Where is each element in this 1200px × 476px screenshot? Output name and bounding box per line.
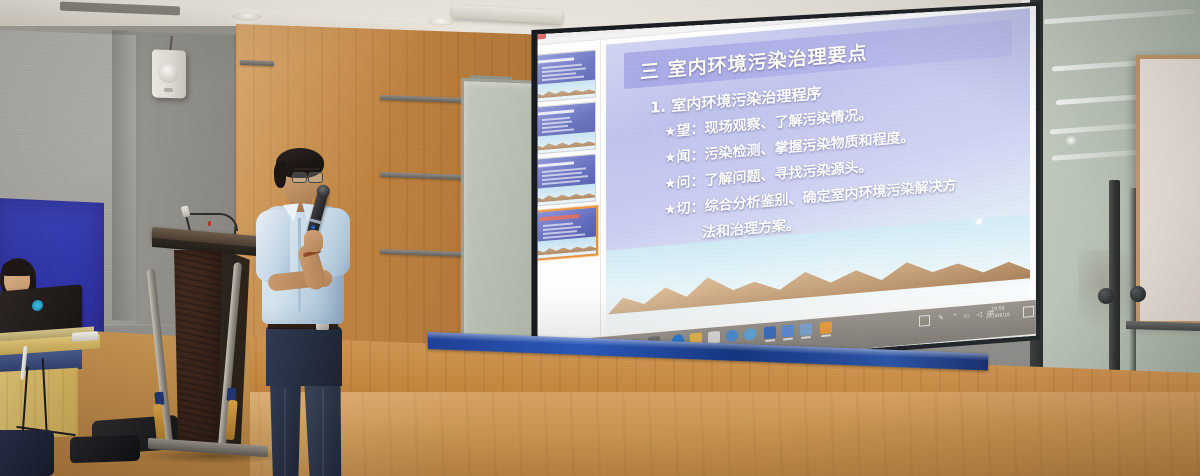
- slide-thumbnail-2[interactable]: [532, 101, 596, 154]
- whiteboard-knob-2[interactable]: [1130, 286, 1146, 302]
- slide-thumbnail-4-active[interactable]: [532, 205, 598, 261]
- wall-speaker-icon: [152, 49, 186, 98]
- word-icon[interactable]: [764, 326, 776, 339]
- thumb-line: [542, 128, 574, 133]
- thumb-title-bar: [538, 161, 574, 167]
- microphone-band: [310, 218, 321, 224]
- recessed-ceiling-light-icon-2: [428, 18, 454, 26]
- slide-thumbnail-1[interactable]: [532, 49, 596, 102]
- thumb-title-bar: [539, 214, 579, 221]
- tray-action-center-icon[interactable]: [919, 315, 930, 327]
- router-icon: [72, 331, 98, 342]
- av-equipment-pile-2: [70, 435, 140, 463]
- presenter-trousers: [266, 326, 342, 386]
- network-icon[interactable]: ▭: [963, 312, 970, 321]
- lectern-front-panel: [172, 250, 224, 448]
- pen-icon[interactable]: ✎: [938, 315, 944, 324]
- podium-mic-gooseneck: [190, 213, 238, 231]
- glass-light-spot: [1064, 136, 1078, 145]
- taskbar-clock[interactable]: 10:56 2018/6/19: [986, 305, 1010, 321]
- excel-icon[interactable]: [800, 323, 812, 336]
- shirt-sleeve-left: [256, 210, 290, 282]
- trouser-crease-right: [322, 388, 324, 476]
- current-slide: 三 室内环境污染治理要点 1. 室内环境污染治理程序 ★望：现场观察、了解污染情…: [606, 8, 1030, 334]
- presenter-hand-right: [304, 230, 323, 252]
- slide-thumbnail-3[interactable]: [532, 153, 596, 206]
- operator-chair: [0, 430, 54, 476]
- lens-left: [292, 172, 307, 183]
- chrome-icon[interactable]: [744, 328, 756, 341]
- volume-icon[interactable]: ◁: [977, 311, 982, 319]
- presenter: [246, 144, 376, 464]
- lecture-hall-photo: File Home Insert Design View: [0, 0, 1200, 476]
- thumb-title-bar: [538, 57, 574, 63]
- podium-mic-indicator: [208, 221, 211, 226]
- speaker-cone: [158, 62, 179, 84]
- clock-date: 2018/6/19: [986, 312, 1010, 321]
- thumb-title-bar: [538, 109, 574, 115]
- mail-icon[interactable]: [726, 329, 738, 342]
- eyeglasses-icon: [292, 172, 322, 182]
- operator-fringe: [2, 260, 32, 276]
- presenter-brow: [294, 168, 320, 170]
- chevron-up-icon[interactable]: ⌃: [952, 313, 958, 322]
- show-desktop-button[interactable]: [1023, 306, 1034, 318]
- wall-corner-shadow: [112, 30, 142, 321]
- trouser-crease-left: [284, 388, 286, 476]
- whiteboard: [1136, 55, 1200, 325]
- speaker-port: [164, 88, 173, 92]
- microphone-grille: [315, 183, 331, 199]
- whiteboard-knob-1[interactable]: [1098, 288, 1114, 304]
- powerpoint-icon[interactable]: [782, 325, 794, 338]
- notes-icon[interactable]: [820, 321, 832, 334]
- lens-right: [308, 172, 323, 183]
- recessed-ceiling-light-icon: [232, 12, 262, 21]
- presenter-sideburn: [274, 162, 286, 188]
